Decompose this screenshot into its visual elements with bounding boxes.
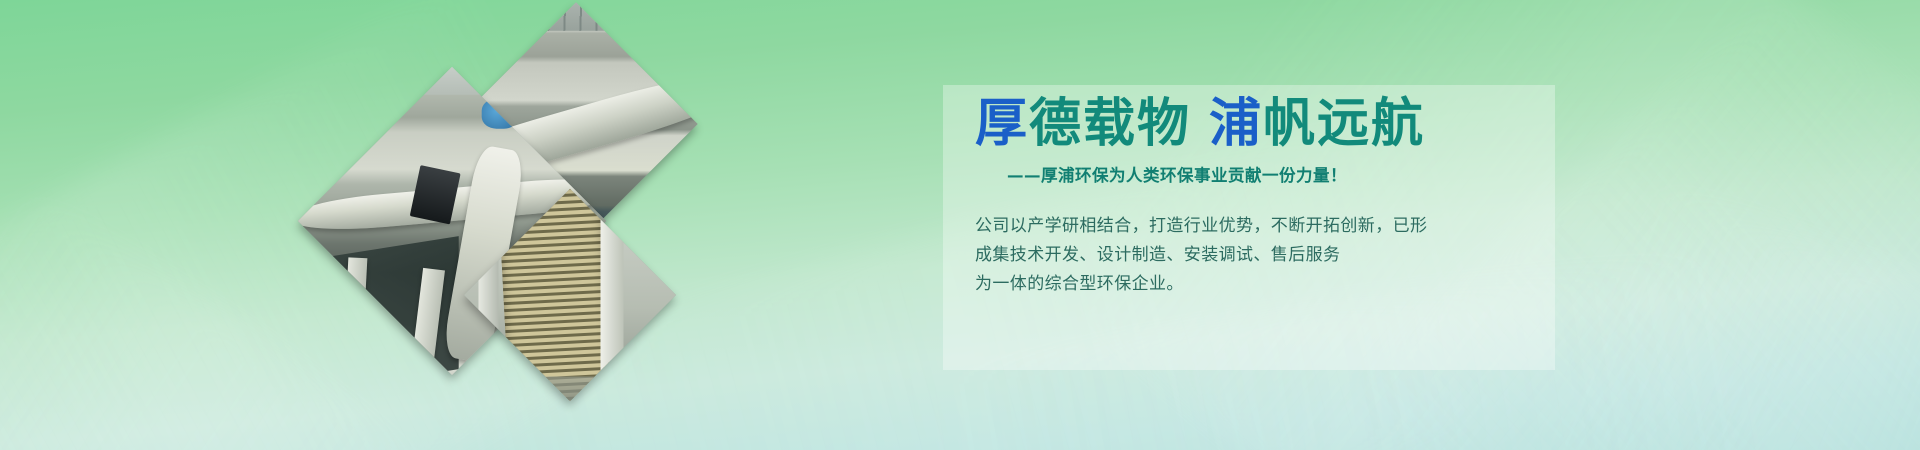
headline-accent-1: 厚 (975, 93, 1029, 154)
paragraph-line: 公司以产学研相结合，打造行业优势，不断开拓创新，已形 (975, 212, 1535, 241)
banner-text-block: 厚德载物浦帆远航 ——厚浦环保为人类环保事业贡献一份力量！ 公司以产学研相结合，… (975, 92, 1535, 299)
headline-accent-2: 浦 (1209, 93, 1263, 154)
paragraph-line: 成集技术开发、设计制造、安装调试、售后服务 (975, 241, 1535, 270)
banner-headline: 厚德载物浦帆远航 (975, 92, 1535, 156)
banner-subtitle: ——厚浦环保为人类环保事业贡献一份力量！ (1007, 162, 1535, 186)
headline-base-2: 帆远航 (1263, 93, 1425, 154)
paragraph-line: 为一体的综合型环保企业。 (975, 270, 1535, 299)
headline-base-1: 德载物 (1029, 93, 1191, 154)
diamond-photo-collage (295, 20, 715, 400)
hero-banner: 厚德载物浦帆远航 ——厚浦环保为人类环保事业贡献一份力量！ 公司以产学研相结合，… (0, 0, 1920, 450)
banner-paragraph: 公司以产学研相结合，打造行业优势，不断开拓创新，已形 成集技术开发、设计制造、安… (975, 212, 1535, 299)
